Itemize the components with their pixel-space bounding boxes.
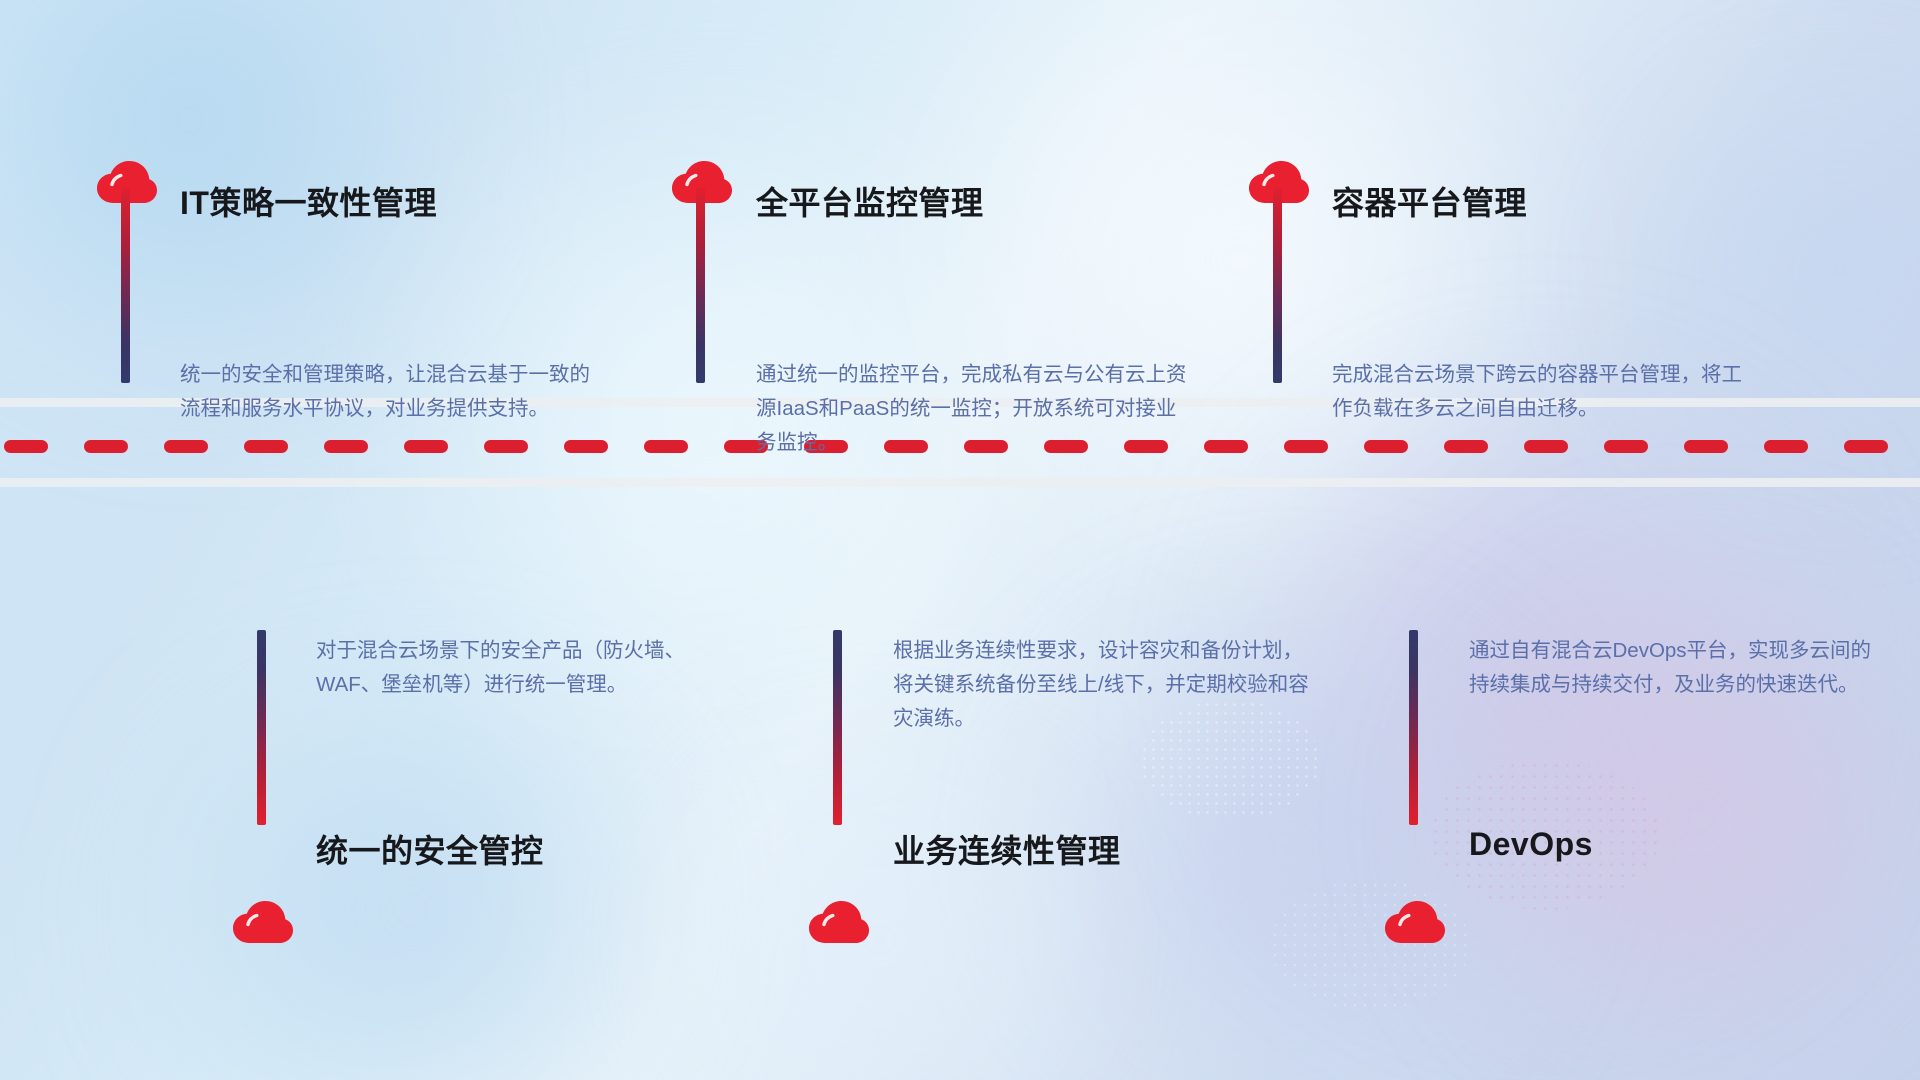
road-dash-segment xyxy=(644,440,689,453)
road-dash-segment xyxy=(1444,440,1489,453)
item-description-unified-security-control: 对于混合云场景下的安全产品（防火墙、WAF、堡垒机等）进行统一管理。 xyxy=(316,634,736,702)
road-dash-segment xyxy=(1684,440,1729,453)
road-edge-line-bottom xyxy=(0,478,1920,487)
cloud-pin-icon xyxy=(808,900,870,944)
item-title-unified-security-control: 统一的安全管控 xyxy=(316,826,544,872)
marker-stem xyxy=(121,188,130,383)
road-dash-segment xyxy=(1524,440,1569,453)
road-dash-segment xyxy=(1284,440,1329,453)
item-title-it-policy-consistency: IT策略一致性管理 xyxy=(180,178,437,224)
road-dash-segment xyxy=(244,440,289,453)
road-dash-segment xyxy=(484,440,529,453)
item-description-devops: 通过自有混合云DevOps平台，实现多云间的持续集成与持续交付，及业务的快速迭代… xyxy=(1469,634,1889,702)
marker-stem xyxy=(1273,188,1282,383)
road-dash-segment xyxy=(1204,440,1249,453)
item-title-container-platform: 容器平台管理 xyxy=(1332,178,1527,224)
cloud-pin-icon xyxy=(232,900,294,944)
road-dash-segment xyxy=(324,440,369,453)
marker-stem xyxy=(1409,630,1418,825)
marker-stem xyxy=(696,188,705,383)
cloud-pin-icon xyxy=(1384,900,1446,944)
road-dash-segment xyxy=(1604,440,1649,453)
item-description-business-continuity: 根据业务连续性要求，设计容灾和备份计划，将关键系统备份至线上/线下，并定期校验和… xyxy=(893,634,1313,736)
road-dash-segment xyxy=(1364,440,1409,453)
item-title-business-continuity: 业务连续性管理 xyxy=(893,826,1121,872)
road-dash-segment xyxy=(564,440,609,453)
item-description-container-platform: 完成混合云场景下跨云的容器平台管理，将工作负载在多云之间自由迁移。 xyxy=(1332,358,1757,426)
marker-stem xyxy=(833,630,842,825)
marker-stem xyxy=(257,630,266,825)
road-dash-segment xyxy=(1764,440,1809,453)
road-dash-segment xyxy=(1844,440,1889,453)
road-dash-segment xyxy=(4,440,49,453)
road-dash-segment xyxy=(84,440,129,453)
infographic-canvas: IT策略一致性管理 统一的安全和管理策略，让混合云基于一致的流程和服务水平协议，… xyxy=(0,0,1920,1080)
item-description-full-platform-monitoring: 通过统一的监控平台，完成私有云与公有云上资源IaaS和PaaS的统一监控；开放系… xyxy=(756,358,1196,460)
item-description-it-policy-consistency: 统一的安全和管理策略，让混合云基于一致的流程和服务水平协议，对业务提供支持。 xyxy=(180,358,610,426)
road-dash-segment xyxy=(164,440,209,453)
road-dash-segment xyxy=(404,440,449,453)
item-title-devops: DevOps xyxy=(1469,826,1593,863)
item-title-full-platform-monitoring: 全平台监控管理 xyxy=(756,178,984,224)
